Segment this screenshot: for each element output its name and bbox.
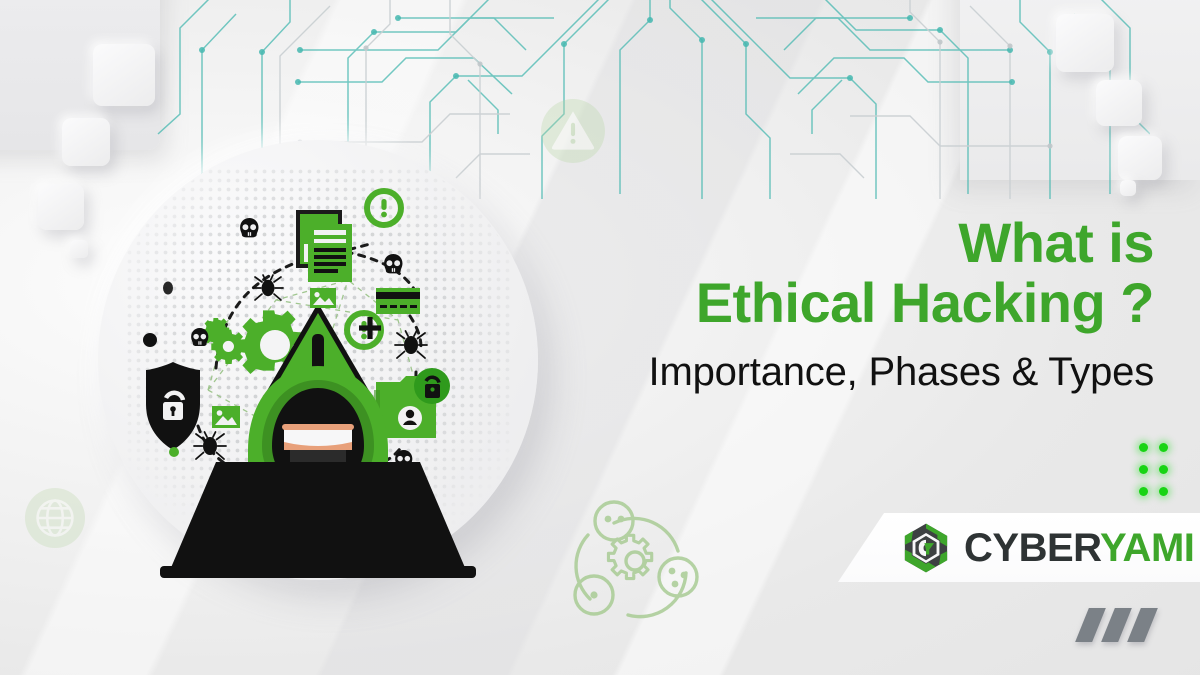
globe-ghost-icon bbox=[24, 487, 86, 549]
brand-name-part1: CYBER bbox=[964, 526, 1100, 570]
image-file-icon-left bbox=[212, 406, 240, 428]
square-right-tiny bbox=[1120, 180, 1136, 196]
headline-block: What is Ethical Hacking ? Importance, Ph… bbox=[514, 213, 1154, 399]
dot-grid-dot bbox=[1159, 443, 1168, 452]
headline-line-1: What is bbox=[514, 213, 1154, 273]
slash-bar bbox=[1127, 608, 1158, 642]
dot-grid-dot bbox=[1159, 487, 1168, 496]
slash-bar bbox=[1101, 608, 1132, 642]
corner-slash-decor bbox=[1082, 608, 1192, 642]
square-left-tiny bbox=[70, 240, 88, 258]
dot-grid-dot bbox=[1139, 487, 1148, 496]
process-gears-ghost-icon bbox=[566, 495, 706, 635]
warning-triangle-ghost-icon bbox=[540, 98, 606, 164]
image-file-icon-mid bbox=[310, 288, 336, 308]
brand-wordmark: CYBERYAMI bbox=[964, 528, 1194, 568]
hexagon-cy-monogram-icon bbox=[900, 522, 952, 574]
dot-grid-dot bbox=[1139, 465, 1148, 474]
brand-logo-banner: CYBERYAMI bbox=[838, 513, 1200, 582]
square-right-lower bbox=[1118, 136, 1162, 180]
poster-canvas: What is Ethical Hacking ? Importance, Ph… bbox=[0, 0, 1200, 675]
credit-card-icon bbox=[376, 288, 420, 314]
square-top-right-large bbox=[1056, 14, 1114, 72]
square-left-lower bbox=[38, 184, 84, 230]
ethical-hacking-hero-illustration bbox=[98, 140, 538, 580]
square-top-left-large bbox=[93, 44, 155, 106]
green-dot-grid bbox=[1133, 436, 1173, 502]
square-right-mid bbox=[1096, 80, 1142, 126]
dot-grid-dot bbox=[1139, 443, 1148, 452]
headline-line-2: Ethical Hacking ? bbox=[514, 273, 1154, 333]
dot-grid-dot bbox=[1159, 465, 1168, 474]
brand-name-part2: YAMI bbox=[1100, 526, 1194, 570]
headline-subtitle: Importance, Phases & Types bbox=[514, 345, 1154, 399]
